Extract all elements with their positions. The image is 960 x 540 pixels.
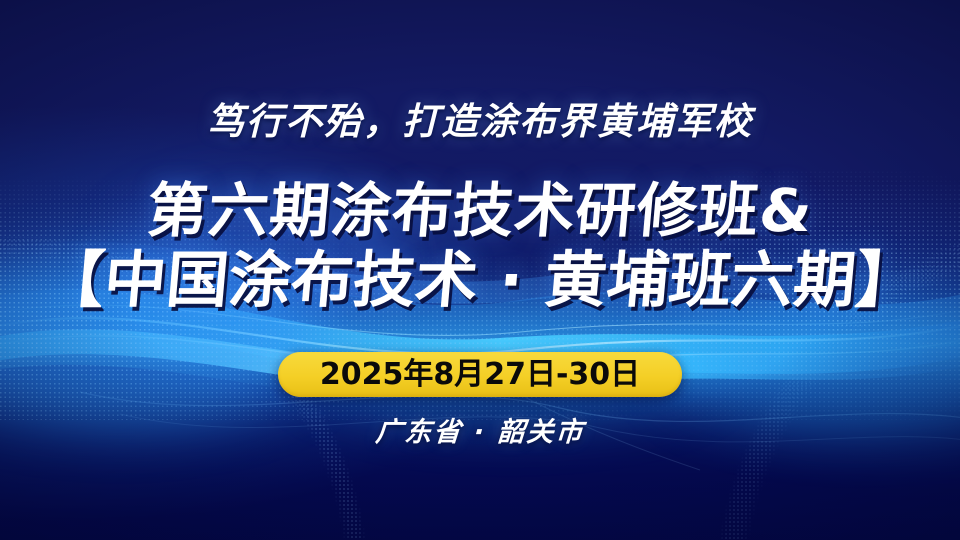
poster-title-line-2: 【中国涂布技术 · 黄埔班六期】 (0, 246, 960, 316)
date-badge: 2025年8月27日-30日 (278, 352, 682, 397)
poster-content: 笃行不殆，打造涂布界黄埔军校 第六期涂布技术研修班& 【中国涂布技术 · 黄埔班… (0, 0, 960, 540)
conference-poster: 笃行不殆，打造涂布界黄埔军校 第六期涂布技术研修班& 【中国涂布技术 · 黄埔班… (0, 0, 960, 540)
poster-tagline: 笃行不殆，打造涂布界黄埔军校 (0, 103, 960, 140)
poster-title-block: 第六期涂布技术研修班& 【中国涂布技术 · 黄埔班六期】 (0, 176, 960, 316)
poster-title-line-1: 第六期涂布技术研修班& (0, 176, 960, 246)
date-badge-label: 2025年8月27日-30日 (320, 360, 640, 390)
poster-location: 广东省 · 韶关市 (0, 419, 960, 446)
